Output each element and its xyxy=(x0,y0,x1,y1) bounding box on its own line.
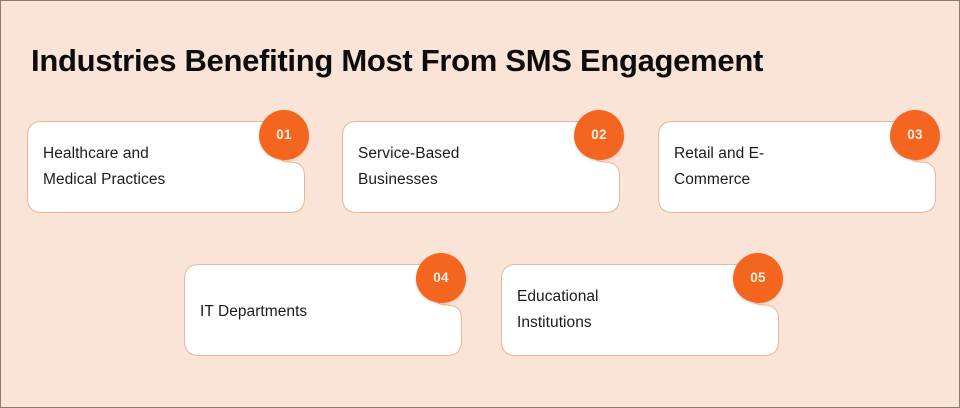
card-label-line-1: Educational xyxy=(517,284,732,310)
card-label-line-2: Businesses xyxy=(358,167,573,193)
industry-card[interactable]: Educational Institutions 05 xyxy=(501,264,779,356)
page-title: Industries Benefiting Most From SMS Enga… xyxy=(31,41,941,81)
card-label-line-2: Institutions xyxy=(517,310,732,336)
card-number-badge: 01 xyxy=(259,110,309,160)
industry-card[interactable]: IT Departments 04 xyxy=(184,264,462,356)
card-label-line-1: Service-Based xyxy=(358,141,573,167)
card-label-line-1: IT Departments xyxy=(200,299,415,325)
card-label: Service-Based Businesses xyxy=(358,121,573,213)
card-label-line-1: Retail and E- xyxy=(674,141,889,167)
infographic-canvas: Industries Benefiting Most From SMS Enga… xyxy=(0,0,960,408)
industry-card[interactable]: Healthcare and Medical Practices 01 xyxy=(27,121,305,213)
card-label-line-2: Medical Practices xyxy=(43,167,258,193)
card-label: Retail and E- Commerce xyxy=(674,121,889,213)
industry-card[interactable]: Service-Based Businesses 02 xyxy=(342,121,620,213)
card-label: IT Departments xyxy=(200,264,415,358)
card-number-badge: 04 xyxy=(416,253,466,303)
card-number-badge: 05 xyxy=(733,253,783,303)
card-number-badge: 02 xyxy=(574,110,624,160)
card-label-line-1: Healthcare and xyxy=(43,141,258,167)
card-label-line-2: Commerce xyxy=(674,167,889,193)
card-number-badge: 03 xyxy=(890,110,940,160)
industry-card[interactable]: Retail and E- Commerce 03 xyxy=(658,121,936,213)
card-label: Educational Institutions xyxy=(517,264,732,356)
card-label: Healthcare and Medical Practices xyxy=(43,121,258,213)
